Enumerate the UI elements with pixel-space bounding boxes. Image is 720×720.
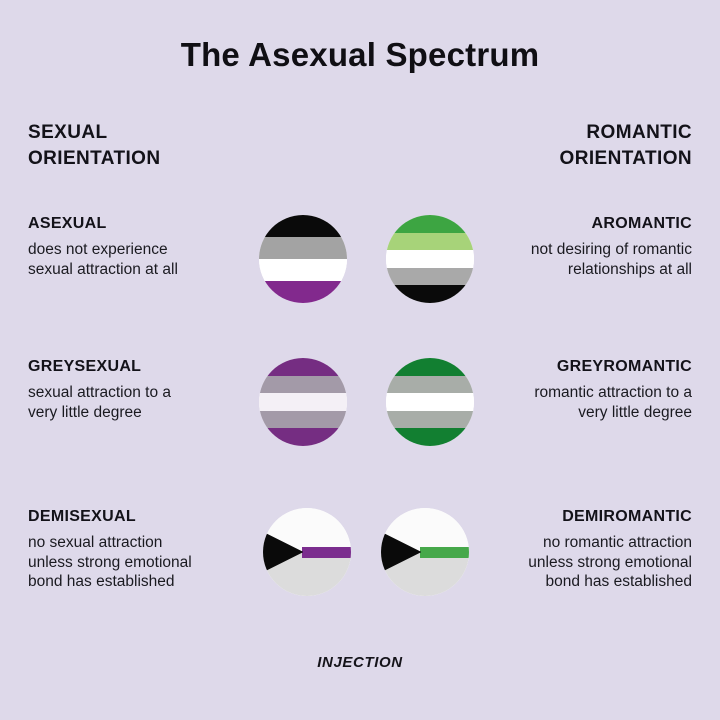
- term-description: not desiring of romantic relationships a…: [460, 240, 692, 279]
- column-header-right-line1: ROMANTIC: [392, 120, 692, 146]
- flag-stripe-4: [259, 428, 347, 446]
- term-label: GREYSEXUAL: [28, 358, 260, 376]
- spectrum-row: GREYSEXUAL sexual attraction to a very l…: [0, 358, 720, 468]
- flag-stripes: [259, 215, 347, 303]
- flag-stripe-0: [259, 358, 347, 376]
- flag-stripe-4: [386, 428, 474, 446]
- description-line: very little degree: [28, 403, 260, 423]
- description-line: very little degree: [460, 403, 692, 423]
- term-label: AROMANTIC: [460, 215, 692, 233]
- flag-stripe-0: [259, 215, 347, 237]
- flag-stripe-2: [259, 259, 347, 281]
- spectrum-row: DEMISEXUAL no sexual attraction unless s…: [0, 508, 720, 618]
- asexual-flag: [259, 215, 347, 303]
- definition-block-demisexual: DEMISEXUAL no sexual attraction unless s…: [28, 508, 260, 592]
- description-line: no romantic attraction: [460, 533, 692, 553]
- description-line: relationships at all: [460, 260, 692, 280]
- description-line: unless strong emotional: [28, 553, 260, 573]
- description-line: sexual attraction to a: [28, 383, 260, 403]
- description-line: romantic attraction to a: [460, 383, 692, 403]
- column-header-left-line1: SEXUAL: [28, 120, 328, 146]
- definition-block-greysexual: GREYSEXUAL sexual attraction to a very l…: [28, 358, 260, 422]
- term-description: no sexual attraction unless strong emoti…: [28, 533, 260, 592]
- flag-stripe-2: [259, 393, 347, 411]
- description-line: unless strong emotional: [460, 553, 692, 573]
- flag-stripe-1: [259, 237, 347, 259]
- flag-stripe-3: [259, 281, 347, 303]
- term-description: sexual attraction to a very little degre…: [28, 383, 260, 422]
- column-header-sexual-orientation: SEXUAL ORIENTATION: [28, 120, 328, 172]
- term-label: DEMISEXUAL: [28, 508, 260, 526]
- flag-stripe-3: [259, 411, 347, 429]
- definition-block-aromantic: AROMANTIC not desiring of romantic relat…: [460, 215, 692, 279]
- definition-block-asexual: ASEXUAL does not experience sexual attra…: [28, 215, 260, 279]
- description-line: does not experience: [28, 240, 260, 260]
- term-label: DEMIROMANTIC: [460, 508, 692, 526]
- page-title: The Asexual Spectrum: [0, 36, 720, 74]
- term-description: does not experience sexual attraction at…: [28, 240, 260, 279]
- infographic-page: The Asexual Spectrum SEXUAL ORIENTATION …: [0, 0, 720, 720]
- column-header-romantic-orientation: ROMANTIC ORIENTATION: [392, 120, 692, 172]
- term-description: romantic attraction to a very little deg…: [460, 383, 692, 422]
- description-line: not desiring of romantic: [460, 240, 692, 260]
- description-line: bond has established: [28, 572, 260, 592]
- description-line: bond has established: [460, 572, 692, 592]
- demisexual-flag: [263, 508, 351, 596]
- column-header-right-line2: ORIENTATION: [392, 146, 692, 172]
- term-label: ASEXUAL: [28, 215, 260, 233]
- description-line: no sexual attraction: [28, 533, 260, 553]
- spectrum-row: ASEXUAL does not experience sexual attra…: [0, 215, 720, 325]
- footer-credit: INJECTION: [0, 654, 720, 671]
- definition-block-greyromantic: GREYROMANTIC romantic attraction to a ve…: [460, 358, 692, 422]
- term-label: GREYROMANTIC: [460, 358, 692, 376]
- flag-stripe-1: [259, 376, 347, 394]
- term-description: no romantic attraction unless strong emo…: [460, 533, 692, 592]
- demi-flag-graphic: [263, 508, 351, 596]
- column-header-left-line2: ORIENTATION: [28, 146, 328, 172]
- flag-stripes: [259, 358, 347, 446]
- flag-stripe-4: [386, 285, 474, 303]
- description-line: sexual attraction at all: [28, 260, 260, 280]
- flag-center-stripe: [302, 547, 351, 558]
- demiromantic-flag: [381, 508, 469, 596]
- greysexual-flag: [259, 358, 347, 446]
- definition-block-demiromantic: DEMIROMANTIC no romantic attraction unle…: [460, 508, 692, 592]
- demi-flag-graphic: [381, 508, 469, 596]
